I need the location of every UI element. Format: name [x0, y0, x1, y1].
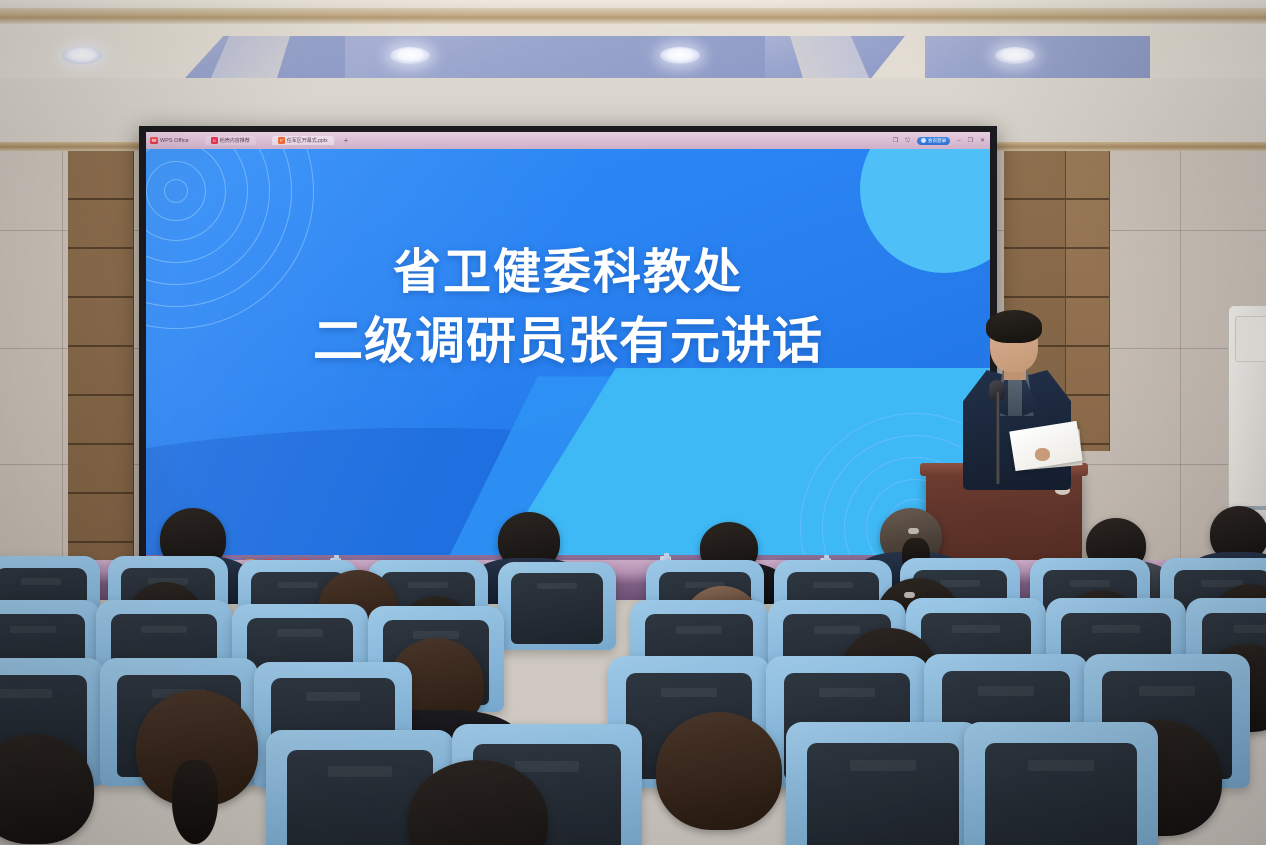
- audience-chair: [786, 722, 980, 845]
- audience-ponytail: [172, 760, 218, 844]
- speaker-hand: [1035, 448, 1050, 461]
- foreground-layer: [0, 0, 1266, 845]
- hair-tie: [904, 592, 915, 598]
- speaker-person: [957, 308, 1077, 488]
- audience-chair: [498, 562, 616, 650]
- microphone-stand: [996, 392, 1000, 484]
- audience-chair: [964, 722, 1158, 845]
- speaker-hair: [986, 310, 1042, 343]
- audience-head: [656, 712, 782, 830]
- conference-hall-scene: W WPS Office D 稻壳内容推荐 P 任军区开幕式.pptx + ❐ …: [0, 0, 1266, 845]
- hair-tie: [908, 528, 919, 534]
